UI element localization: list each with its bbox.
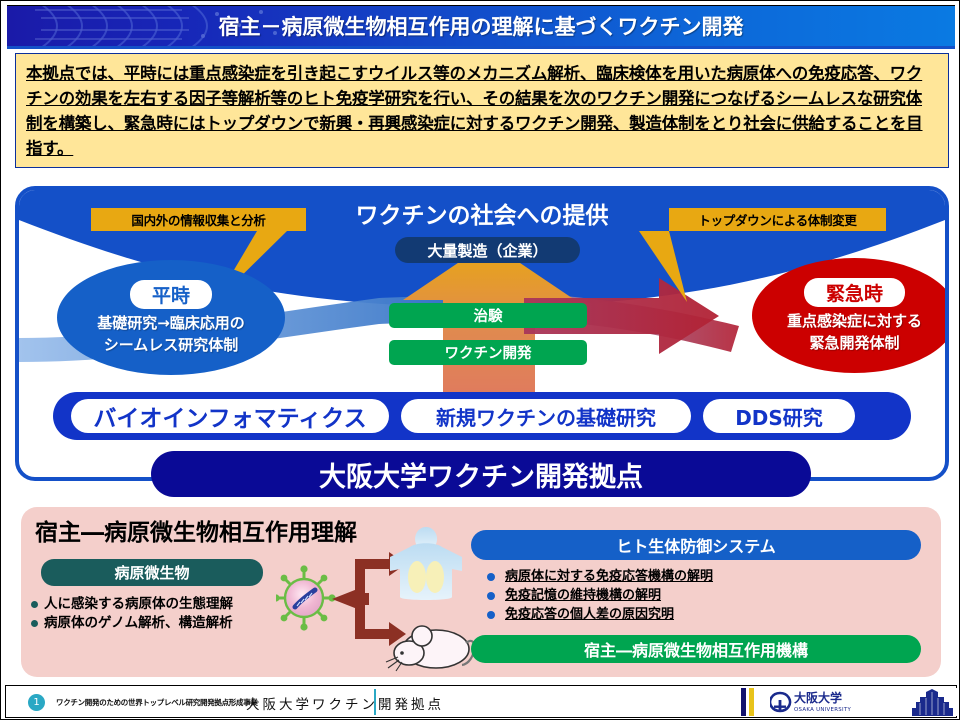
list-item: 人に感染する病原体の生態理解 xyxy=(31,595,291,614)
human-body-icon xyxy=(390,527,462,600)
page-number-badge: 1 xyxy=(28,694,45,711)
virus-icon xyxy=(276,565,336,630)
research-pill-dds: DDS研究 xyxy=(703,399,855,433)
svg-text:OSAKA UNIVERSITY: OSAKA UNIVERSITY xyxy=(794,707,852,713)
footer-main-title: 大阪大学ワクチン開発拠点 xyxy=(246,693,444,713)
footer-bar: 1 ワクチン開発のための世界トップレベル研究開発拠点形成事業 大阪大学ワクチン開… xyxy=(5,685,957,718)
osaka-castle-icon xyxy=(906,688,958,716)
human-defense-box: ヒト生体防御システム xyxy=(471,530,921,560)
emergency-ellipse: 緊急時 重点感染症に対する 緊急開発体制 xyxy=(752,258,949,373)
pathogen-bullets: 人に感染する病原体の生態理解 病原体のゲノム解析、構造解析 xyxy=(31,595,291,633)
emergency-line1: 重点感染症に対する xyxy=(787,310,922,332)
footer-bar-gold xyxy=(749,688,754,716)
peacetime-ellipse: 平時 基礎研究→臨床応用の シームレス研究体制 xyxy=(57,260,285,375)
flag-left: 国内外の情報収集と分析 xyxy=(91,208,306,231)
peacetime-line1: 基礎研究→臨床応用の xyxy=(97,312,245,334)
title-underline xyxy=(7,46,955,49)
list-item: 病原体に対する免疫応答機構の解明 xyxy=(479,567,919,586)
flag-right: トップダウンによる体制変更 xyxy=(669,208,886,231)
hub-banner: 大阪大学ワクチン開発拠点 xyxy=(151,451,811,497)
osaka-university-logo: 大阪大学 OSAKA UNIVERSITY xyxy=(770,688,900,716)
emergency-pill: 緊急時 xyxy=(804,278,905,307)
peacetime-line2: シームレス研究体制 xyxy=(104,334,239,356)
mechanism-box: 宿主―病原微生物相互作用機構 xyxy=(471,635,921,663)
diagram-frame: ワクチンの社会への提供 国内外の情報収集と分析 トップダウンによる体制変更 大量… xyxy=(15,186,949,481)
abstract-box: 本拠点では、平時には重点感染症を引き起こすウイルス等のメカニズム解析、臨床検体を… xyxy=(15,53,949,168)
svg-text:大阪大学: 大阪大学 xyxy=(794,690,842,705)
list-item: 免疫応答の個人差の原因究明 xyxy=(479,605,919,624)
footer-subtitle: ワクチン開発のための世界トップレベル研究開発拠点形成事業 xyxy=(56,697,258,708)
human-defense-bullets: 病原体に対する免疫応答機構の解明 免疫記憶の維持機構の解明 免疫応答の個人差の原… xyxy=(479,567,919,624)
research-pill-bioinformatics: バイオインフォマティクス xyxy=(71,399,389,433)
mass-production-box: 大量製造（企業） xyxy=(395,237,580,263)
abstract-text: 本拠点では、平時には重点感染症を引き起こすウイルス等のメカニズム解析、臨床検体を… xyxy=(26,61,938,161)
emergency-line2: 緊急開発体制 xyxy=(809,332,899,354)
peacetime-pill: 平時 xyxy=(130,280,212,309)
list-item: 病原体のゲノム解析、構造解析 xyxy=(31,614,291,633)
interaction-illustrations xyxy=(276,521,476,681)
slide-root: 宿主－病原微生物相互作用の理解に基づくワクチン開発 本拠点では、平時には重点感染… xyxy=(0,0,960,720)
pathogen-box: 病原微生物 xyxy=(41,559,263,586)
research-areas-bar: バイオインフォマティクス 新規ワクチンの基礎研究 DDS研究 xyxy=(53,392,911,440)
list-item: 免疫記憶の維持機構の解明 xyxy=(479,586,919,605)
green-bar-trial: 治験 xyxy=(389,303,587,328)
title-bar: 宿主－病原微生物相互作用の理解に基づくワクチン開発 xyxy=(7,5,955,47)
page-title: 宿主－病原微生物相互作用の理解に基づくワクチン開発 xyxy=(7,6,955,46)
green-bar-vaccine-development: ワクチン開発 xyxy=(389,340,587,365)
footer-color-bars xyxy=(741,688,754,716)
research-pill-basic-vaccine-research: 新規ワクチンの基礎研究 xyxy=(401,399,691,433)
footer-divider xyxy=(374,689,376,715)
footer-bar-navy xyxy=(741,688,746,716)
